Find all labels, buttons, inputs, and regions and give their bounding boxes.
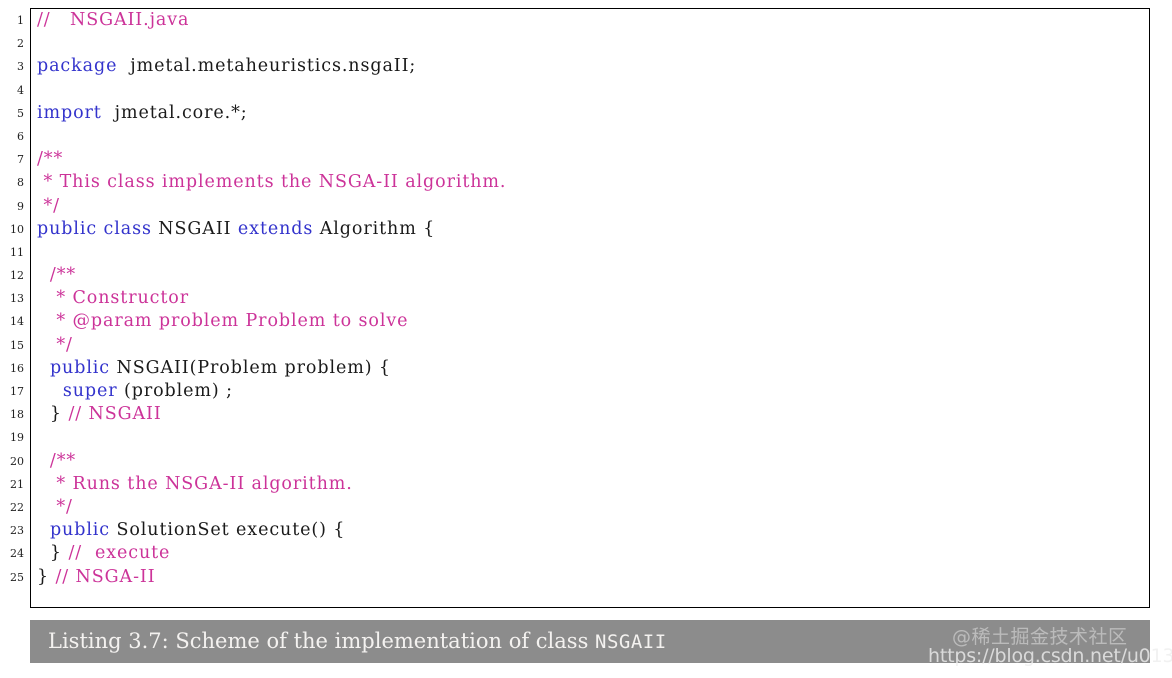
code-token-kw: public xyxy=(37,219,97,239)
code-line-text: } // NSGAII xyxy=(37,403,162,426)
code-line-text: * Constructor xyxy=(37,287,189,310)
code-line-text: } // execute xyxy=(37,542,170,565)
code-token-id xyxy=(37,381,63,401)
code-token-cm: */ xyxy=(37,497,73,517)
code-line: 22 */ xyxy=(0,496,1172,519)
line-number: 12 xyxy=(0,264,24,287)
line-number: 11 xyxy=(0,241,24,264)
code-token-id: (problem) ; xyxy=(118,381,233,401)
code-token-cm: /** xyxy=(37,149,63,169)
code-line: 20 /** xyxy=(0,450,1172,473)
code-line: 17 super (problem) ; xyxy=(0,380,1172,403)
line-number: 19 xyxy=(0,426,24,449)
line-number: 10 xyxy=(0,218,24,241)
code-line: 4 xyxy=(0,79,1172,102)
code-token-id xyxy=(37,520,50,540)
code-token-id: } xyxy=(37,567,56,587)
code-token-id: Algorithm { xyxy=(313,219,435,239)
line-number: 14 xyxy=(0,310,24,333)
line-number: 4 xyxy=(0,79,24,102)
code-line-text: public NSGAII(Problem problem) { xyxy=(37,357,391,380)
code-token-id: } xyxy=(37,404,68,424)
code-line: 15 */ xyxy=(0,334,1172,357)
code-line: 23 public SolutionSet execute() { xyxy=(0,519,1172,542)
code-line: 5import jmetal.core.*; xyxy=(0,102,1172,125)
code-line: 21 * Runs the NSGA-II algorithm. xyxy=(0,473,1172,496)
line-number: 18 xyxy=(0,403,24,426)
code-line-text: * @param problem Problem to solve xyxy=(37,310,408,333)
code-line: 12 /** xyxy=(0,264,1172,287)
watermark-url: https://blog.csdn.net/u013555719 xyxy=(928,645,1172,667)
code-token-id: NSGAII xyxy=(152,219,238,239)
code-token-cm: * This class implements the NSGA-II algo… xyxy=(37,172,506,192)
line-number: 21 xyxy=(0,473,24,496)
line-number: 23 xyxy=(0,519,24,542)
code-line-text: */ xyxy=(37,334,73,357)
code-line: 10public class NSGAII extends Algorithm … xyxy=(0,218,1172,241)
line-number: 9 xyxy=(0,195,24,218)
code-token-kw: super xyxy=(63,381,118,401)
code-line-text: */ xyxy=(37,195,60,218)
code-line-text: // NSGAII.java xyxy=(37,9,189,32)
line-number: 15 xyxy=(0,334,24,357)
code-token-cm: // NSGAII xyxy=(68,404,161,424)
code-line: 11 xyxy=(0,241,1172,264)
code-listing-figure: 1// NSGAII.java23package jmetal.metaheur… xyxy=(0,0,1172,678)
code-token-kw: public xyxy=(50,520,110,540)
code-token-kw: extends xyxy=(238,219,313,239)
code-token-id xyxy=(37,358,50,378)
code-token-id: NSGAII(Problem problem) { xyxy=(110,358,391,378)
code-line-text: /** xyxy=(37,148,63,171)
code-line-text: * Runs the NSGA-II algorithm. xyxy=(37,473,353,496)
code-line: 14 * @param problem Problem to solve xyxy=(0,310,1172,333)
code-line: 7/** xyxy=(0,148,1172,171)
code-line-text: */ xyxy=(37,496,73,519)
code-line: 1// NSGAII.java xyxy=(0,9,1172,32)
code-token-id: } xyxy=(37,543,68,563)
code-token-cm: // execute xyxy=(68,543,170,563)
code-line: 13 * Constructor xyxy=(0,287,1172,310)
code-token-id: SolutionSet execute() { xyxy=(110,520,345,540)
line-number: 25 xyxy=(0,566,24,589)
line-number: 8 xyxy=(0,171,24,194)
caption-class-name: NSGAII xyxy=(595,631,667,653)
code-token-cm: // NSGA-II xyxy=(56,567,156,587)
code-token-kw: package xyxy=(37,56,117,76)
code-line-text: import jmetal.core.*; xyxy=(37,102,248,125)
line-number: 24 xyxy=(0,542,24,565)
line-number: 22 xyxy=(0,496,24,519)
code-line: 18 } // NSGAII xyxy=(0,403,1172,426)
line-number: 3 xyxy=(0,55,24,78)
line-number: 6 xyxy=(0,125,24,148)
code-line: 19 xyxy=(0,426,1172,449)
code-line-text: } // NSGA-II xyxy=(37,566,156,589)
code-token-kw: import xyxy=(37,103,102,123)
code-line-text: package jmetal.metaheuristics.nsgaII; xyxy=(37,55,416,78)
line-number: 5 xyxy=(0,102,24,125)
caption-prefix: Listing 3.7: Scheme of the implementatio… xyxy=(48,629,595,653)
code-token-id: jmetal.core.*; xyxy=(102,103,248,123)
code-line: 2 xyxy=(0,32,1172,55)
code-token-cm: // NSGAII.java xyxy=(37,10,189,30)
code-token-cm: * Constructor xyxy=(37,288,189,308)
code-line: 3package jmetal.metaheuristics.nsgaII; xyxy=(0,55,1172,78)
code-line-text: super (problem) ; xyxy=(37,380,233,403)
code-line-text: public class NSGAII extends Algorithm { xyxy=(37,218,435,241)
code-token-cm: /** xyxy=(37,265,76,285)
line-number: 17 xyxy=(0,380,24,403)
code-lines-container: 1// NSGAII.java23package jmetal.metaheur… xyxy=(0,9,1172,589)
code-line: 25} // NSGA-II xyxy=(0,566,1172,589)
code-token-cm: /** xyxy=(37,451,76,471)
code-token-cm: * Runs the NSGA-II algorithm. xyxy=(37,474,353,494)
code-line: 24 } // execute xyxy=(0,542,1172,565)
code-line-text: public SolutionSet execute() { xyxy=(37,519,345,542)
code-token-kw: class xyxy=(104,219,152,239)
line-number: 20 xyxy=(0,450,24,473)
listing-caption-text: Listing 3.7: Scheme of the implementatio… xyxy=(48,620,667,663)
code-token-kw: public xyxy=(50,358,110,378)
line-number: 13 xyxy=(0,287,24,310)
line-number: 1 xyxy=(0,9,24,32)
code-line-text: * This class implements the NSGA-II algo… xyxy=(37,171,506,194)
code-token-cm: * @param problem Problem to solve xyxy=(37,311,408,331)
code-token-id: jmetal.metaheuristics.nsgaII; xyxy=(117,56,416,76)
line-number: 7 xyxy=(0,148,24,171)
code-token-cm: */ xyxy=(37,196,60,216)
code-line-text: /** xyxy=(37,264,76,287)
code-line: 16 public NSGAII(Problem problem) { xyxy=(0,357,1172,380)
code-line: 6 xyxy=(0,125,1172,148)
code-token-cm: */ xyxy=(37,335,73,355)
code-line: 9 */ xyxy=(0,195,1172,218)
code-line-text: /** xyxy=(37,450,76,473)
line-number: 16 xyxy=(0,357,24,380)
line-number: 2 xyxy=(0,32,24,55)
code-line: 8 * This class implements the NSGA-II al… xyxy=(0,171,1172,194)
